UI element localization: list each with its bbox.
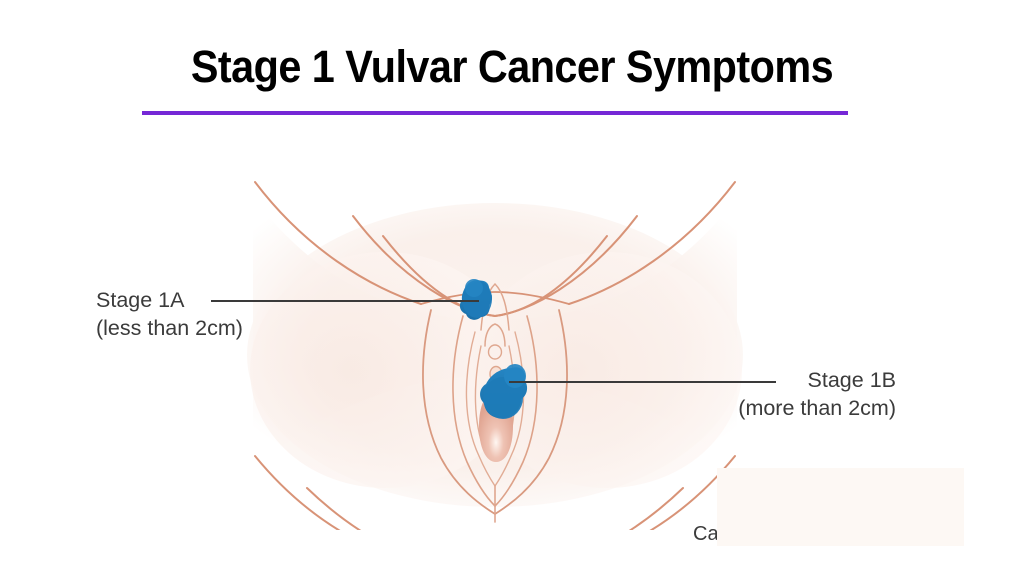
callout-stage-1a: Stage 1A (less than 2cm) xyxy=(96,286,243,342)
vulvar-anatomy-diagram xyxy=(235,170,755,530)
title-block: Stage 1 Vulvar Cancer Symptoms xyxy=(0,44,1024,89)
leader-line-stage-1b xyxy=(509,381,776,383)
callout-stage-1a-title: Stage 1A xyxy=(96,286,243,314)
leader-line-stage-1a xyxy=(211,300,479,302)
occluding-block xyxy=(717,468,964,546)
callout-stage-1b: Stage 1B (more than 2cm) xyxy=(738,366,896,422)
slide-canvas: Stage 1 Vulvar Cancer Symptoms xyxy=(0,0,1024,576)
callout-stage-1b-subtitle: (more than 2cm) xyxy=(738,394,896,422)
anatomy-svg xyxy=(235,170,755,530)
page-title: Stage 1 Vulvar Cancer Symptoms xyxy=(41,44,983,89)
bottom-caption-text: Ca xyxy=(693,521,719,547)
callout-stage-1b-title: Stage 1B xyxy=(738,366,896,394)
callout-stage-1a-subtitle: (less than 2cm) xyxy=(96,314,243,342)
title-underline xyxy=(142,111,848,115)
